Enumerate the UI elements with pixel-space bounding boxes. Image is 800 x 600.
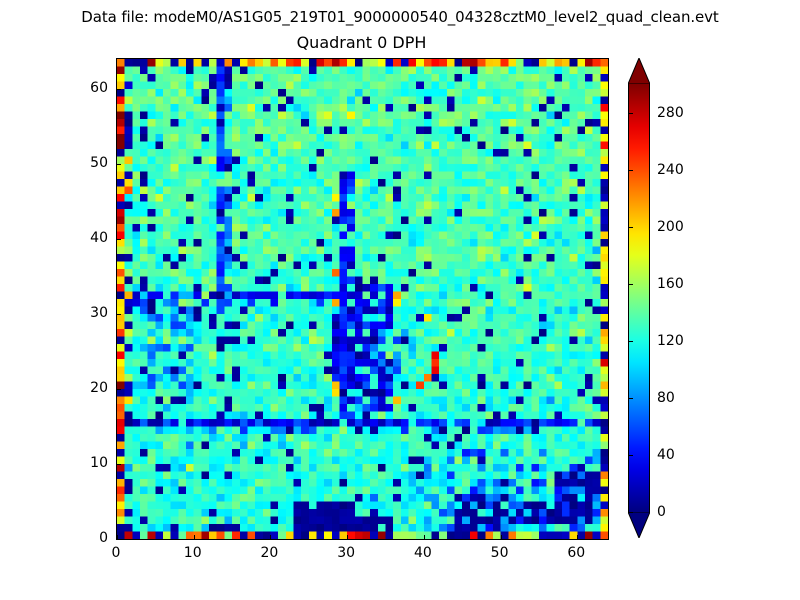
- x-tick-label: 40: [414, 545, 432, 561]
- x-tick-label: 50: [491, 545, 509, 561]
- colorbar-tick-label: 40: [657, 447, 675, 463]
- y-tick-label: 0: [74, 530, 108, 546]
- y-tick: [117, 539, 121, 540]
- x-tick-label: 10: [184, 545, 202, 561]
- colorbar-tick-label: 80: [657, 390, 675, 406]
- x-tick: [347, 535, 348, 539]
- colorbar-tick: [628, 398, 633, 399]
- colorbar-extend-up-icon: [628, 58, 650, 84]
- x-tick-label: 20: [261, 545, 279, 561]
- y-tick-label: 10: [74, 455, 108, 471]
- colorbar-tick-label: 0: [657, 504, 666, 520]
- y-tick-label: 40: [74, 230, 108, 246]
- y-tick-label: 30: [74, 305, 108, 321]
- colorbar-tick: [628, 341, 633, 342]
- colorbar-gradient: [628, 84, 650, 512]
- figure-canvas: Data file: modeM0/AS1G05_219T01_90000005…: [0, 0, 800, 600]
- detector-image: [117, 59, 608, 539]
- x-tick: [424, 535, 425, 539]
- y-tick: [117, 89, 121, 90]
- y-tick-label: 50: [74, 155, 108, 171]
- colorbar-tick-label: 160: [657, 276, 684, 292]
- y-tick-label: 60: [74, 80, 108, 96]
- colorbar-tick-label: 240: [657, 162, 684, 178]
- colorbar-tick: [628, 170, 633, 171]
- x-tick-label: 60: [567, 545, 585, 561]
- x-tick: [501, 535, 502, 539]
- colorbar-tick: [628, 284, 633, 285]
- colorbar-tick: [628, 113, 633, 114]
- y-tick-label: 20: [74, 380, 108, 396]
- data-file-label: Data file: modeM0/AS1G05_219T01_90000005…: [0, 8, 800, 26]
- colorbar-tick-label: 120: [657, 333, 684, 349]
- y-tick: [117, 389, 121, 390]
- axes-title: Quadrant 0 DPH: [116, 33, 607, 52]
- y-tick: [117, 239, 121, 240]
- colorbar-tick: [628, 512, 633, 513]
- colorbar-tick-label: 200: [657, 219, 684, 235]
- heatmap-axes: [116, 58, 609, 540]
- y-tick: [117, 314, 121, 315]
- colorbar-extend-down-icon: [628, 512, 650, 538]
- x-tick: [577, 535, 578, 539]
- colorbar-tick: [628, 455, 633, 456]
- y-tick: [117, 164, 121, 165]
- colorbar: 04080120160200240280: [628, 58, 650, 538]
- colorbar-tick: [628, 227, 633, 228]
- x-tick: [194, 535, 195, 539]
- colorbar-tick-label: 280: [657, 105, 684, 121]
- x-tick-label: 0: [112, 545, 121, 561]
- y-tick: [117, 464, 121, 465]
- x-tick-label: 30: [337, 545, 355, 561]
- x-tick: [270, 535, 271, 539]
